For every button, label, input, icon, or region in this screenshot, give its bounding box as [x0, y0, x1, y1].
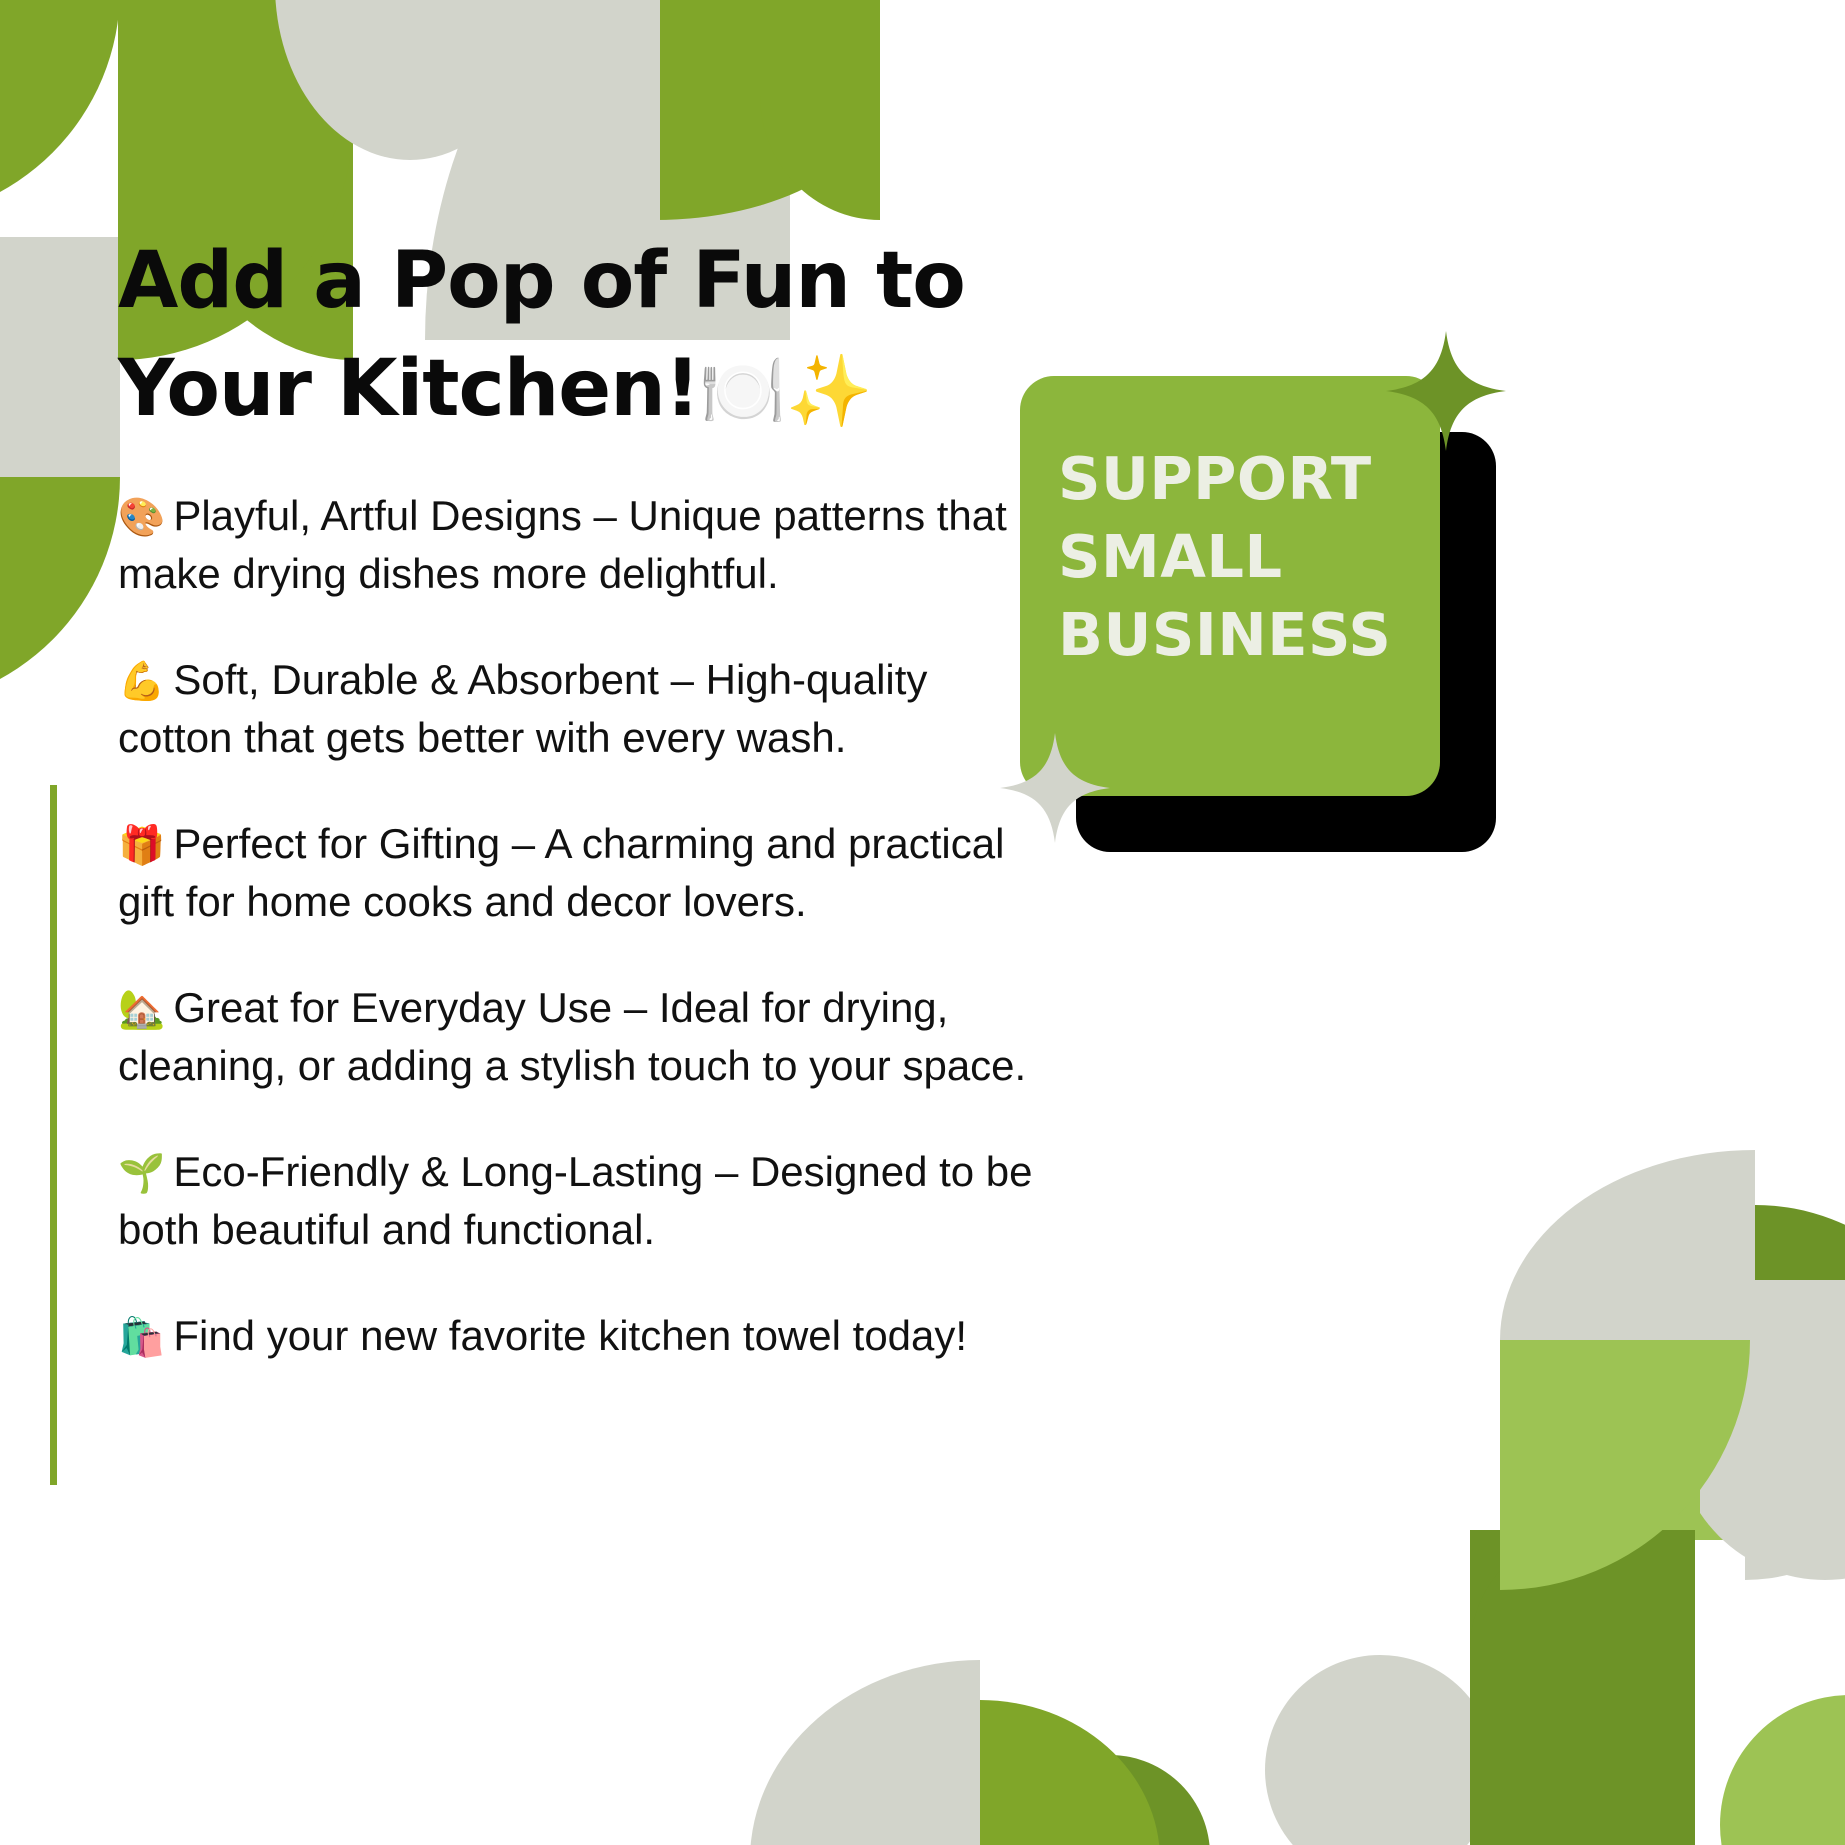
headline-line-2: Kitchen! [337, 344, 699, 434]
left-accent-bar [50, 785, 57, 1485]
deco-br-green-circle-1 [1720, 1695, 1845, 1845]
deco-shape-green-qc-3 [0, 477, 120, 707]
badge-line-3: BUSINESS [1058, 596, 1438, 674]
list-item: 🏡Great for Everyday Use – Ideal for dryi… [118, 979, 1048, 1095]
list-item-text: Playful, Artful Designs – Unique pattern… [118, 492, 1007, 597]
wrapped-gift-icon: 🎁 [118, 825, 165, 867]
list-item-text: Soft, Durable & Absorbent – High-quality… [118, 656, 927, 761]
list-item: 💪Soft, Durable & Absorbent – High-qualit… [118, 651, 1048, 767]
list-item-text: Perfect for Gifting – A charming and pra… [118, 820, 1004, 925]
deco-shape-green-rect-2 [655, 0, 880, 95]
badge-line-2: SMALL [1058, 518, 1438, 596]
content-column: Add a Pop of Fun to Your Kitchen!🍽️✨ 🎨Pl… [118, 228, 1018, 1413]
badge-text: SUPPORT SMALL BUSINESS [1058, 440, 1438, 674]
deco-br-gray-qc-2 [1745, 1280, 1845, 1580]
list-item: 🛍️Find your new favorite kitchen towel t… [118, 1307, 1048, 1365]
deco-br-gray-qc-1 [1500, 1150, 1755, 1340]
sparkle-icon-bottom-left [1000, 728, 1110, 848]
list-item: 🎨Playful, Artful Designs – Unique patter… [118, 487, 1048, 603]
deco-shape-gray-rect-1 [0, 237, 120, 477]
list-item: 🎁Perfect for Gifting – A charming and pr… [118, 815, 1048, 931]
artist-palette-icon: 🎨 [118, 497, 165, 539]
list-item-text: Great for Everyday Use – Ideal for dryin… [118, 984, 1026, 1089]
list-item-text: Eco-Friendly & Long-Lasting – Designed t… [118, 1148, 1033, 1253]
badge-line-1: SUPPORT [1058, 440, 1438, 518]
seedling-icon: 🌱 [118, 1153, 165, 1195]
deco-br-gray-circle-2 [1265, 1655, 1495, 1845]
list-item: 🌱Eco-Friendly & Long-Lasting – Designed … [118, 1143, 1048, 1259]
sparkles-icon: ✨ [785, 350, 871, 432]
deco-shape-green-qc-1 [0, 0, 120, 220]
flexed-biceps-icon: 💪 [118, 661, 165, 703]
house-with-garden-icon: 🏡 [118, 989, 165, 1031]
shopping-bags-icon: 🛍️ [118, 1317, 165, 1359]
fork-and-knife-with-plate-icon: 🍽️ [699, 350, 785, 432]
deco-bottom-gray-qc [750, 1660, 980, 1845]
deco-br-green-qc-5 [1500, 1340, 1750, 1590]
poster-canvas: Add a Pop of Fun to Your Kitchen!🍽️✨ 🎨Pl… [0, 0, 1845, 1845]
deco-br-green-rect-4 [1470, 1650, 1695, 1845]
list-item-text: Find your new favorite kitchen towel tod… [173, 1312, 967, 1359]
support-small-business-badge: SUPPORT SMALL BUSINESS [1012, 368, 1512, 868]
decoration-bottom-right [1150, 950, 1845, 1845]
sparkle-icon-top-right [1386, 326, 1506, 456]
